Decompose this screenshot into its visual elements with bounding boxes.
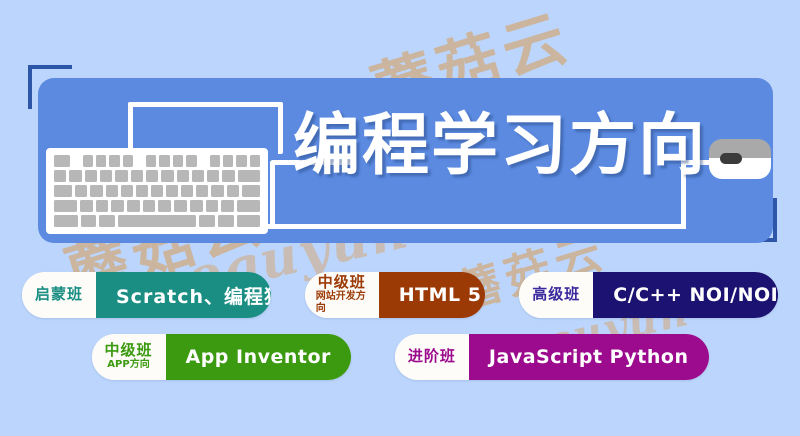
hero-panel: 编程学习方向 [38, 78, 773, 243]
badge-course-name: C/C++ NOI/NOIP [593, 272, 778, 318]
mouse-wheel-icon [720, 153, 742, 164]
course-badge-zhongjiban-web[interactable]: 中级班 网站开发方向 HTML 5 [305, 272, 486, 318]
badge-course-name: JavaScript Python [469, 334, 709, 380]
page-title: 编程学习方向 [293, 112, 707, 179]
badge-level-label: 中级班 网站开发方向 [305, 272, 379, 318]
course-badge-groups: 启蒙班 Scratch、编程猫 中级班 网站开发方向 HTML 5 高级班 C/… [0, 272, 800, 396]
badge-level-text: 进阶班 [408, 349, 456, 365]
poster-canvas: 蘑菇云 蘑菇云 蘑菇云 moguyun moguyun moguyun [0, 0, 800, 436]
badge-direction-text: 网站开发方向 [316, 291, 368, 315]
badge-level-text: 中级班 [318, 275, 366, 291]
badge-course-name: Scratch、编程猫 [96, 272, 271, 318]
badge-course-name: App Inventor [166, 334, 351, 380]
course-badge-zhongjiban-app[interactable]: 中级班 APP方向 App Inventor [92, 334, 351, 380]
badge-course-name: HTML 5 [379, 272, 486, 318]
badge-level-label: 高级班 [519, 272, 593, 318]
badge-level-label: 进阶班 [395, 334, 469, 380]
monitor-outline-icon [128, 102, 283, 154]
badge-level-text: 启蒙班 [35, 287, 83, 303]
course-badge-row: 启蒙班 Scratch、编程猫 中级班 网站开发方向 HTML 5 高级班 C/… [0, 272, 800, 318]
mouse-cable [266, 224, 686, 229]
mouse-icon [709, 139, 771, 179]
course-badge-qimengban[interactable]: 启蒙班 Scratch、编程猫 [22, 272, 271, 318]
course-badge-jinjieban[interactable]: 进阶班 JavaScript Python [395, 334, 709, 380]
badge-level-label: 中级班 APP方向 [92, 334, 166, 380]
badge-level-text: 高级班 [532, 287, 580, 303]
badge-level-text: 中级班 [104, 343, 152, 359]
keyboard-icon [46, 148, 268, 234]
badge-level-label: 启蒙班 [22, 272, 96, 318]
course-badge-gaojiban[interactable]: 高级班 C/C++ NOI/NOIP [519, 272, 778, 318]
course-badge-row: 中级班 APP方向 App Inventor 进阶班 JavaScript Py… [0, 334, 800, 380]
badge-direction-text: APP方向 [107, 359, 149, 371]
